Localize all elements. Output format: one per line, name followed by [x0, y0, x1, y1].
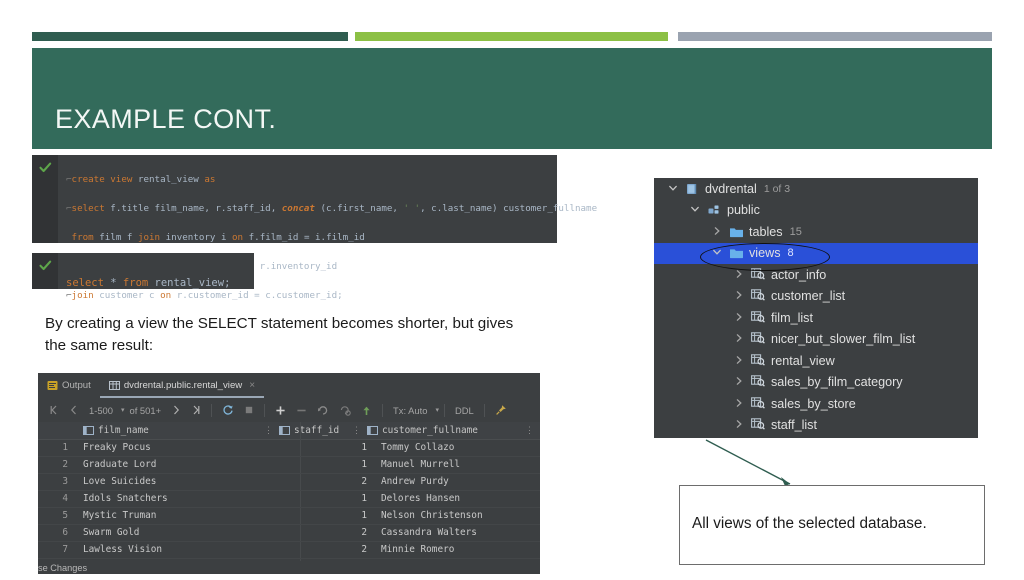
- row-number: 2: [38, 459, 77, 470]
- chevron-right-icon[interactable]: [732, 269, 745, 281]
- view-icon: [751, 375, 766, 389]
- column-menu-icon[interactable]: ⋮: [525, 426, 540, 436]
- tree-item-rental-view[interactable]: rental_view: [654, 350, 978, 372]
- submit-icon[interactable]: [356, 398, 377, 422]
- table-row[interactable]: 5Mystic Truman1Nelson Christenson: [38, 507, 540, 525]
- tab-rental-view[interactable]: dvdrental.public.rental_view ×: [100, 373, 264, 398]
- table-row[interactable]: 3Love Suicides2Andrew Purdy: [38, 473, 540, 491]
- database-icon: [685, 182, 700, 196]
- tree-item-label: film_list: [771, 311, 813, 325]
- first-page-icon[interactable]: [44, 398, 64, 422]
- prev-page-icon[interactable]: [64, 398, 84, 422]
- cell-film-name[interactable]: Idols Snatchers: [77, 493, 279, 504]
- sql-code-select: select * from rental_view;: [66, 262, 250, 320]
- check-icon: [39, 161, 52, 174]
- annotation-callout-box: All views of the selected database.: [679, 485, 985, 565]
- cell-staff-id[interactable]: 2: [279, 544, 375, 555]
- next-page-icon[interactable]: [166, 398, 186, 422]
- table-row[interactable]: 2Graduate Lord1Manuel Murrell: [38, 456, 540, 474]
- result-tabs: Output dvdrental.public.rental_view ×: [38, 373, 540, 398]
- tree-item-label: customer_list: [771, 289, 845, 303]
- chevron-right-icon[interactable]: [732, 290, 745, 302]
- table-row[interactable]: 7Lawless Vision2Minnie Romero: [38, 541, 540, 559]
- cell-staff-id[interactable]: 2: [279, 476, 375, 487]
- tree-item-label: sales_by_store: [771, 397, 856, 411]
- check-icon: [39, 259, 52, 272]
- cell-staff-id[interactable]: 1: [279, 510, 375, 521]
- minus-icon[interactable]: [291, 398, 312, 422]
- chevron-down-icon[interactable]: [688, 204, 701, 216]
- database-tree: dvdrental1 of 3publictables15views8actor…: [654, 178, 978, 436]
- tree-item-dvdrental[interactable]: dvdrental1 of 3: [654, 178, 978, 200]
- column-header-label: customer_fullname: [382, 425, 478, 436]
- chevron-down-icon[interactable]: [666, 183, 679, 195]
- cell-customer-fullname[interactable]: Cassandra Walters: [375, 527, 540, 538]
- row-number: 6: [38, 527, 77, 538]
- accent-bar-dark-green: [32, 32, 348, 41]
- chevron-right-icon[interactable]: [732, 376, 745, 388]
- schema-icon: [707, 203, 722, 217]
- tree-item-film-list[interactable]: film_list: [654, 307, 978, 329]
- sql-editor-select[interactable]: select * from rental_view;: [32, 253, 254, 289]
- accent-bar-light-green: [355, 32, 668, 41]
- tree-item-actor-info[interactable]: actor_info: [654, 264, 978, 286]
- annotation-ellipse: [700, 243, 830, 271]
- toolbar-divider: [211, 404, 212, 417]
- cell-film-name[interactable]: Lawless Vision: [77, 544, 279, 555]
- database-tree-panel: dvdrental1 of 3publictables15views8actor…: [654, 178, 978, 438]
- tree-item-customer-list[interactable]: customer_list: [654, 286, 978, 308]
- chevron-right-icon[interactable]: [710, 226, 723, 238]
- page-range-label[interactable]: 1-500: [84, 398, 118, 422]
- column-icon: [83, 425, 94, 436]
- ddl-button[interactable]: DDL: [450, 398, 479, 422]
- cell-staff-id[interactable]: 1: [279, 442, 375, 453]
- chevron-right-icon[interactable]: [732, 398, 745, 410]
- plus-icon[interactable]: [270, 398, 291, 422]
- tree-item-public[interactable]: public: [654, 200, 978, 222]
- column-menu-icon[interactable]: ⋮: [264, 426, 279, 436]
- column-icon: [367, 425, 378, 436]
- chevron-right-icon[interactable]: [732, 355, 745, 367]
- refresh-icon[interactable]: [217, 398, 239, 422]
- stop-icon[interactable]: [239, 398, 259, 422]
- cell-film-name[interactable]: Mystic Truman: [77, 510, 279, 521]
- last-page-icon[interactable]: [186, 398, 206, 422]
- cell-film-name[interactable]: Graduate Lord: [77, 459, 279, 470]
- tree-item-nicer-but-slower-film-list[interactable]: nicer_but_slower_film_list: [654, 329, 978, 351]
- row-number: 3: [38, 476, 77, 487]
- status-text: se Changes: [38, 563, 87, 573]
- view-icon: [751, 289, 766, 303]
- cell-film-name[interactable]: Swarm Gold: [77, 527, 279, 538]
- output-icon: [47, 380, 58, 391]
- tree-item-label: public: [727, 203, 760, 217]
- revert-selected-icon[interactable]: [334, 398, 356, 422]
- toolbar-divider: [264, 404, 265, 417]
- column-header-film-name[interactable]: film_name ⋮: [77, 422, 279, 439]
- view-icon: [751, 311, 766, 325]
- chevron-right-icon[interactable]: [732, 333, 745, 345]
- column-menu-icon[interactable]: ⋮: [352, 426, 367, 436]
- tx-mode-label[interactable]: Tx: Auto: [388, 398, 432, 422]
- cell-film-name[interactable]: Love Suicides: [77, 476, 279, 487]
- row-number: 4: [38, 493, 77, 504]
- table-row[interactable]: 6Swarm Gold2Cassandra Walters: [38, 524, 540, 542]
- page-title: EXAMPLE CONT.: [55, 104, 276, 135]
- body-paragraph: By creating a view the SELECT statement …: [45, 313, 515, 357]
- view-icon: [751, 332, 766, 346]
- result-toolbar: 1-500 ▾ of 501+: [38, 398, 540, 422]
- tree-item-label: tables: [749, 225, 783, 239]
- revert-icon[interactable]: [312, 398, 334, 422]
- cell-customer-fullname[interactable]: Minnie Romero: [375, 544, 540, 555]
- tree-item-tables[interactable]: tables15: [654, 221, 978, 243]
- toolbar-divider: [484, 404, 485, 417]
- row-number: 7: [38, 544, 77, 555]
- folder-icon: [729, 225, 744, 239]
- accent-bar-gray: [678, 32, 992, 41]
- tab-output[interactable]: Output: [38, 373, 100, 398]
- slide: EXAMPLE CONT. ⌐create view rental_view a…: [0, 0, 1024, 574]
- view-icon: [751, 354, 766, 368]
- table-row[interactable]: 1Freaky Pocus1Tommy Collazo: [38, 439, 540, 457]
- tree-item-label: sales_by_film_category: [771, 375, 903, 389]
- row-number: 1: [38, 442, 77, 453]
- view-icon: [751, 397, 766, 411]
- close-icon[interactable]: ×: [249, 380, 255, 391]
- status-bar: se Changes: [38, 561, 540, 574]
- sql-editor-create-view[interactable]: ⌐create view rental_view as ⌐select f.ti…: [32, 155, 557, 243]
- tab-output-label: Output: [62, 380, 91, 391]
- cell-film-name[interactable]: Freaky Pocus: [77, 442, 279, 453]
- chevron-down-icon[interactable]: ▾: [435, 406, 439, 414]
- chevron-right-icon[interactable]: [732, 312, 745, 324]
- cell-staff-id[interactable]: 1: [279, 459, 375, 470]
- toolbar-divider: [382, 404, 383, 417]
- cell-staff-id[interactable]: 2: [279, 527, 375, 538]
- cell-customer-fullname[interactable]: Manuel Murrell: [375, 459, 540, 470]
- result-grid-panel: Output dvdrental.public.rental_view × 1-…: [38, 373, 540, 574]
- table-row[interactable]: 4Idols Snatchers1Delores Hansen: [38, 490, 540, 508]
- tab-rental-view-label: dvdrental.public.rental_view: [124, 380, 242, 391]
- tree-item-badge: 1 of 3: [764, 183, 790, 195]
- table-icon: [109, 380, 120, 391]
- tree-item-label: rental_view: [771, 354, 835, 368]
- total-rows-label: of 501+: [125, 398, 167, 422]
- cell-customer-fullname[interactable]: Nelson Christenson: [375, 510, 540, 521]
- toolbar-divider: [444, 404, 445, 417]
- row-number: 5: [38, 510, 77, 521]
- column-header-customer-fullname[interactable]: customer_fullname ⋮: [367, 422, 540, 439]
- cell-customer-fullname[interactable]: Tommy Collazo: [375, 442, 540, 453]
- cell-customer-fullname[interactable]: Delores Hansen: [375, 493, 540, 504]
- annotation-callout-text: All views of the selected database.: [692, 515, 927, 533]
- tree-item-label: nicer_but_slower_film_list: [771, 332, 915, 346]
- tree-item-count: 15: [790, 226, 802, 238]
- tree-item-sales-by-store[interactable]: sales_by_store: [654, 393, 978, 415]
- tree-item-label: dvdrental: [705, 182, 757, 196]
- column-icon: [279, 425, 290, 436]
- grid-header-row: film_name ⋮ staff_id ⋮ customer_fullname…: [38, 422, 540, 440]
- pin-icon[interactable]: [490, 398, 512, 422]
- tree-item-sales-by-film-category[interactable]: sales_by_film_category: [654, 372, 978, 394]
- column-header-staff-id[interactable]: staff_id ⋮: [279, 422, 367, 439]
- cell-customer-fullname[interactable]: Andrew Purdy: [375, 476, 540, 487]
- cell-staff-id[interactable]: 1: [279, 493, 375, 504]
- column-header-label: film_name: [98, 425, 149, 436]
